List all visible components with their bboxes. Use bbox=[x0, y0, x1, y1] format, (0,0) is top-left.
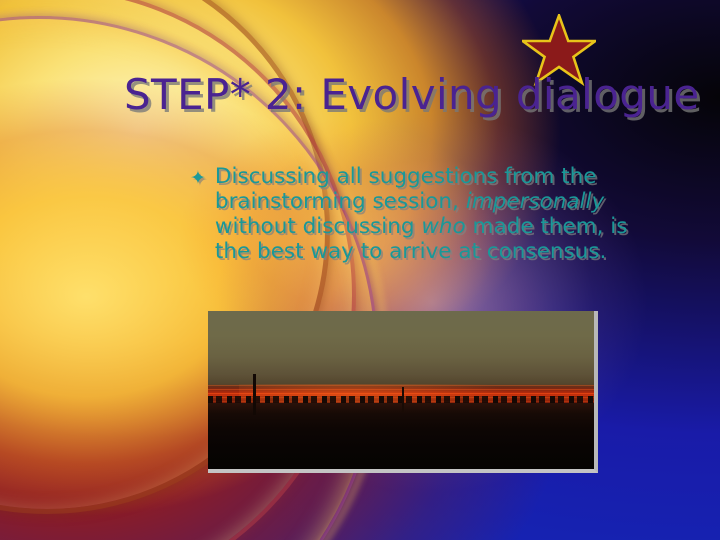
photo-mast-silhouette bbox=[402, 387, 404, 412]
page-title: STEP* 2: Evolving dialogue bbox=[124, 70, 704, 119]
diamond-bullet-icon: ✦ bbox=[190, 169, 206, 188]
bullet-item-text: Discussing all suggestions from the brai… bbox=[215, 164, 666, 264]
emphasized-text: impersonally bbox=[466, 189, 604, 214]
photo-tower-silhouette bbox=[253, 374, 256, 415]
sunset-photo bbox=[208, 311, 594, 469]
plain-text: without discussing bbox=[215, 214, 421, 239]
emphasized-text: who bbox=[421, 214, 465, 239]
presentation-slide: STEP* 2: Evolving dialogue ✦ Discussing … bbox=[0, 0, 720, 540]
sunset-photo-frame bbox=[208, 311, 598, 473]
photo-ground-silhouette bbox=[208, 403, 594, 469]
bullet-list-item: ✦ Discussing all suggestions from the br… bbox=[190, 164, 666, 264]
